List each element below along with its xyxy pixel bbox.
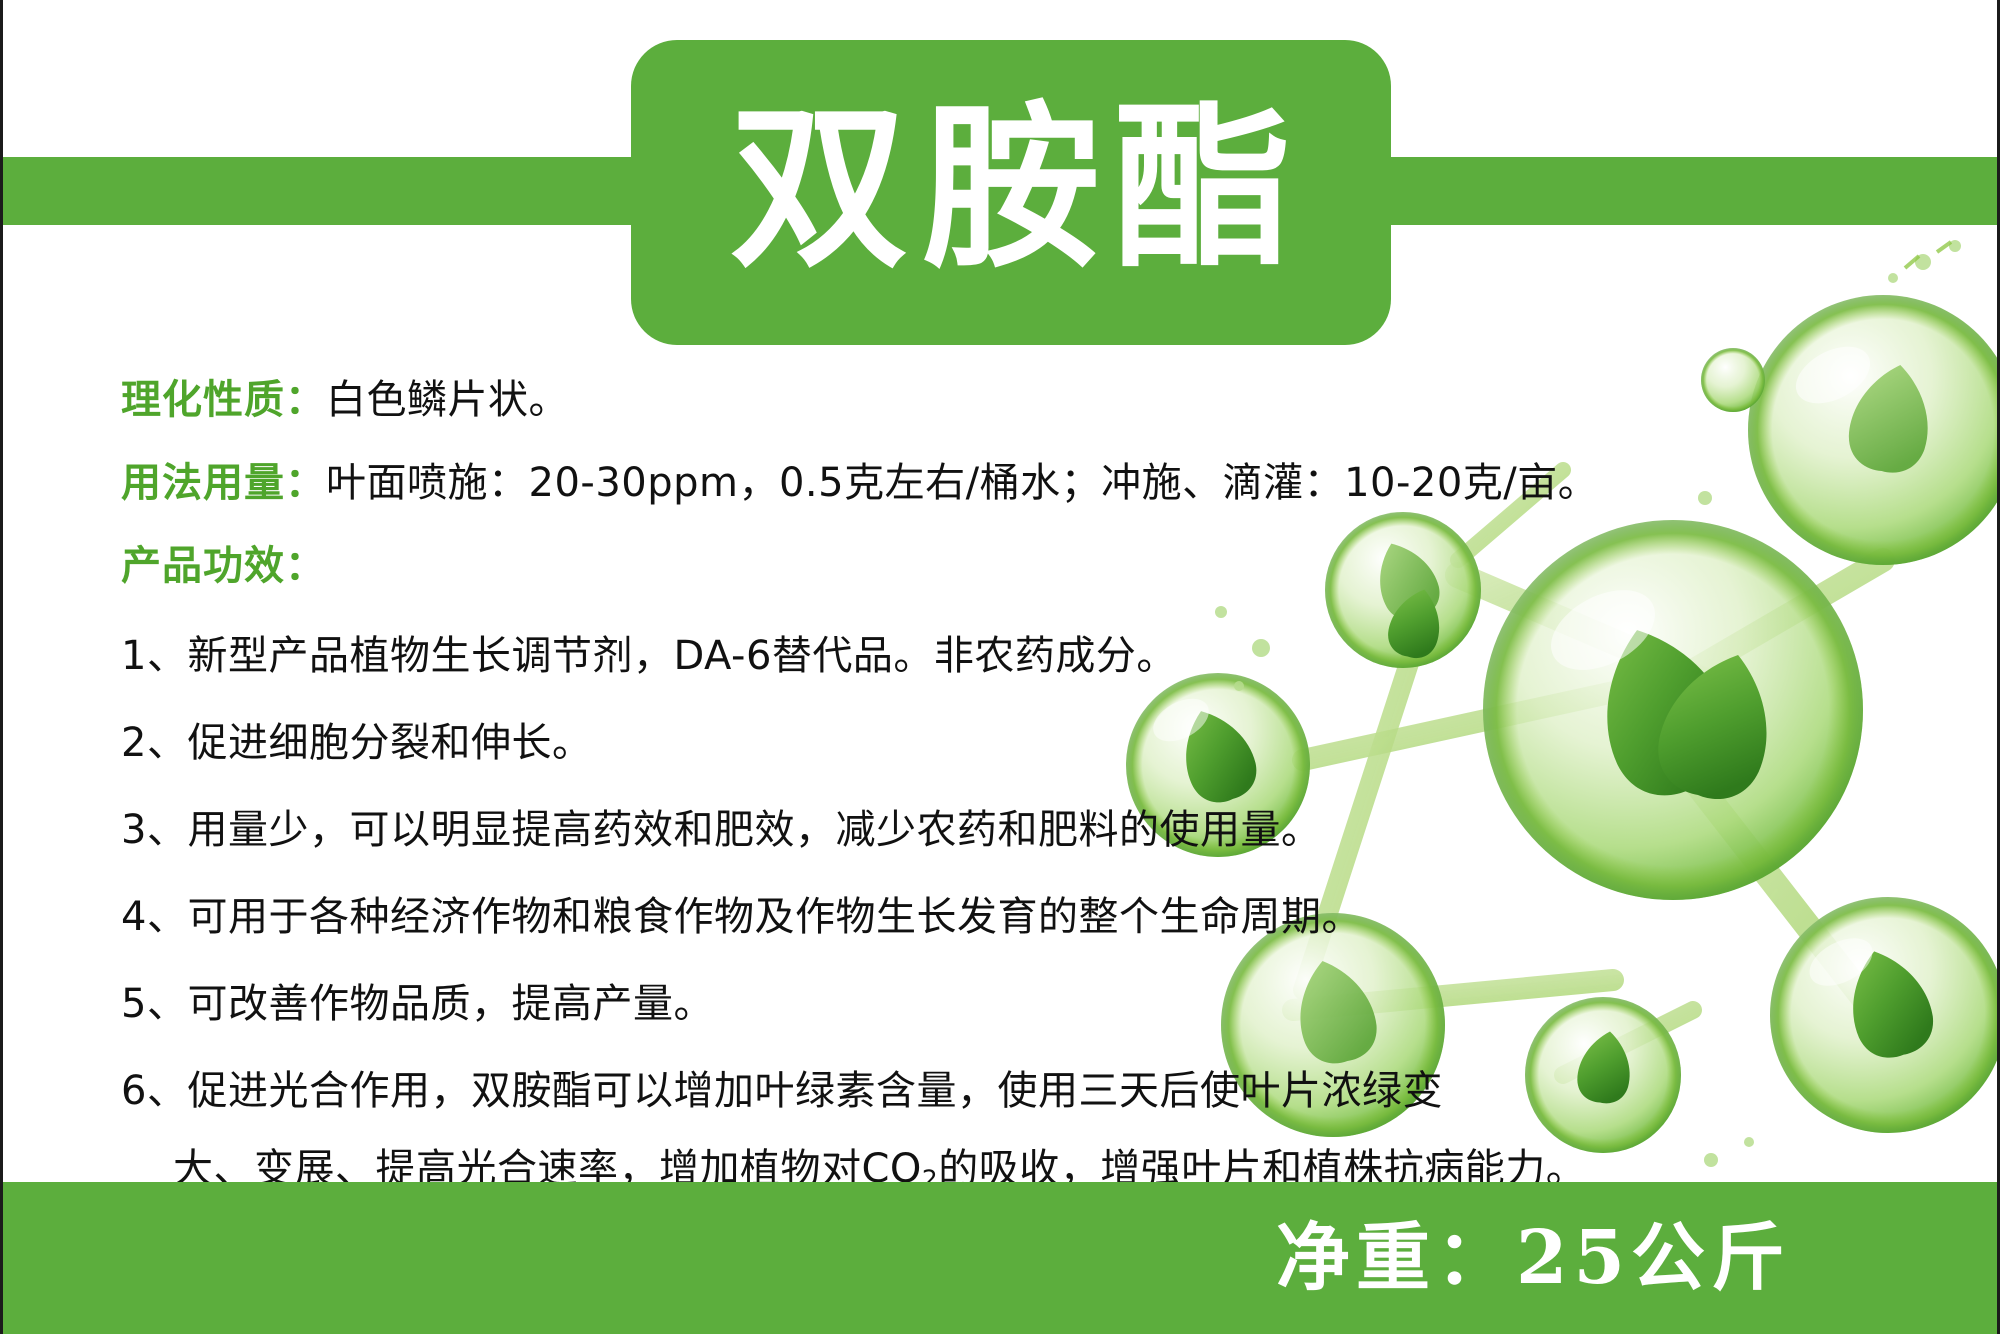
benefit-item-1: 1、新型产品植物生长调节剂，DA-6替代品。非农药成分。 xyxy=(121,636,1681,676)
page-title: 双胺酯 xyxy=(716,100,1306,278)
benefit-item-5: 5、可改善作物品质，提高产量。 xyxy=(121,984,1681,1024)
dosage-value: 叶面喷施：20-30ppm，0.5克左右/桶水；冲施、滴灌：10-20克/亩。 xyxy=(326,460,1598,506)
benefit-item-6-line1: 6、促进光合作用，双胺酯可以增加叶绿素含量，使用三天后使叶片浓绿变 xyxy=(121,1068,1443,1114)
physical-properties-value: 白色鳞片状。 xyxy=(326,377,569,423)
dosage-line: 用法用量：叶面喷施：20-30ppm，0.5克左右/桶水；冲施、滴灌：10-20… xyxy=(121,463,1681,503)
product-title-plaque: 双胺酯 xyxy=(631,40,1391,345)
dosage-label: 用法用量： xyxy=(121,460,326,506)
benefit-item-3: 3、用量少，可以明显提高药效和肥效，减少农药和肥料的使用量。 xyxy=(121,810,1681,850)
physical-properties-line: 理化性质：白色鳞片状。 xyxy=(121,380,1681,420)
label-body-copy: 理化性质：白色鳞片状。 用法用量：叶面喷施：20-30ppm，0.5克左右/桶水… xyxy=(121,380,1681,1239)
benefit-item-6: 6、促进光合作用，双胺酯可以增加叶绿素含量，使用三天后使叶片浓绿变 大、变展、提… xyxy=(121,1071,1681,1192)
physical-properties-label: 理化性质： xyxy=(121,377,326,423)
benefits-heading: 产品功效： xyxy=(121,546,1681,586)
benefit-item-2: 2、促进细胞分裂和伸长。 xyxy=(121,723,1681,763)
bottom-green-band: 净重：25公斤 xyxy=(3,1182,2000,1334)
benefit-item-4: 4、可用于各种经济作物和粮食作物及作物生长发育的整个生命周期。 xyxy=(121,897,1681,937)
net-weight-text: 净重：25公斤 xyxy=(1276,1221,1791,1295)
product-label-canvas: 双胺酯 理化性质：白色鳞片状。 用法用量：叶面喷施：20-30ppm，0.5克左… xyxy=(0,0,2000,1334)
